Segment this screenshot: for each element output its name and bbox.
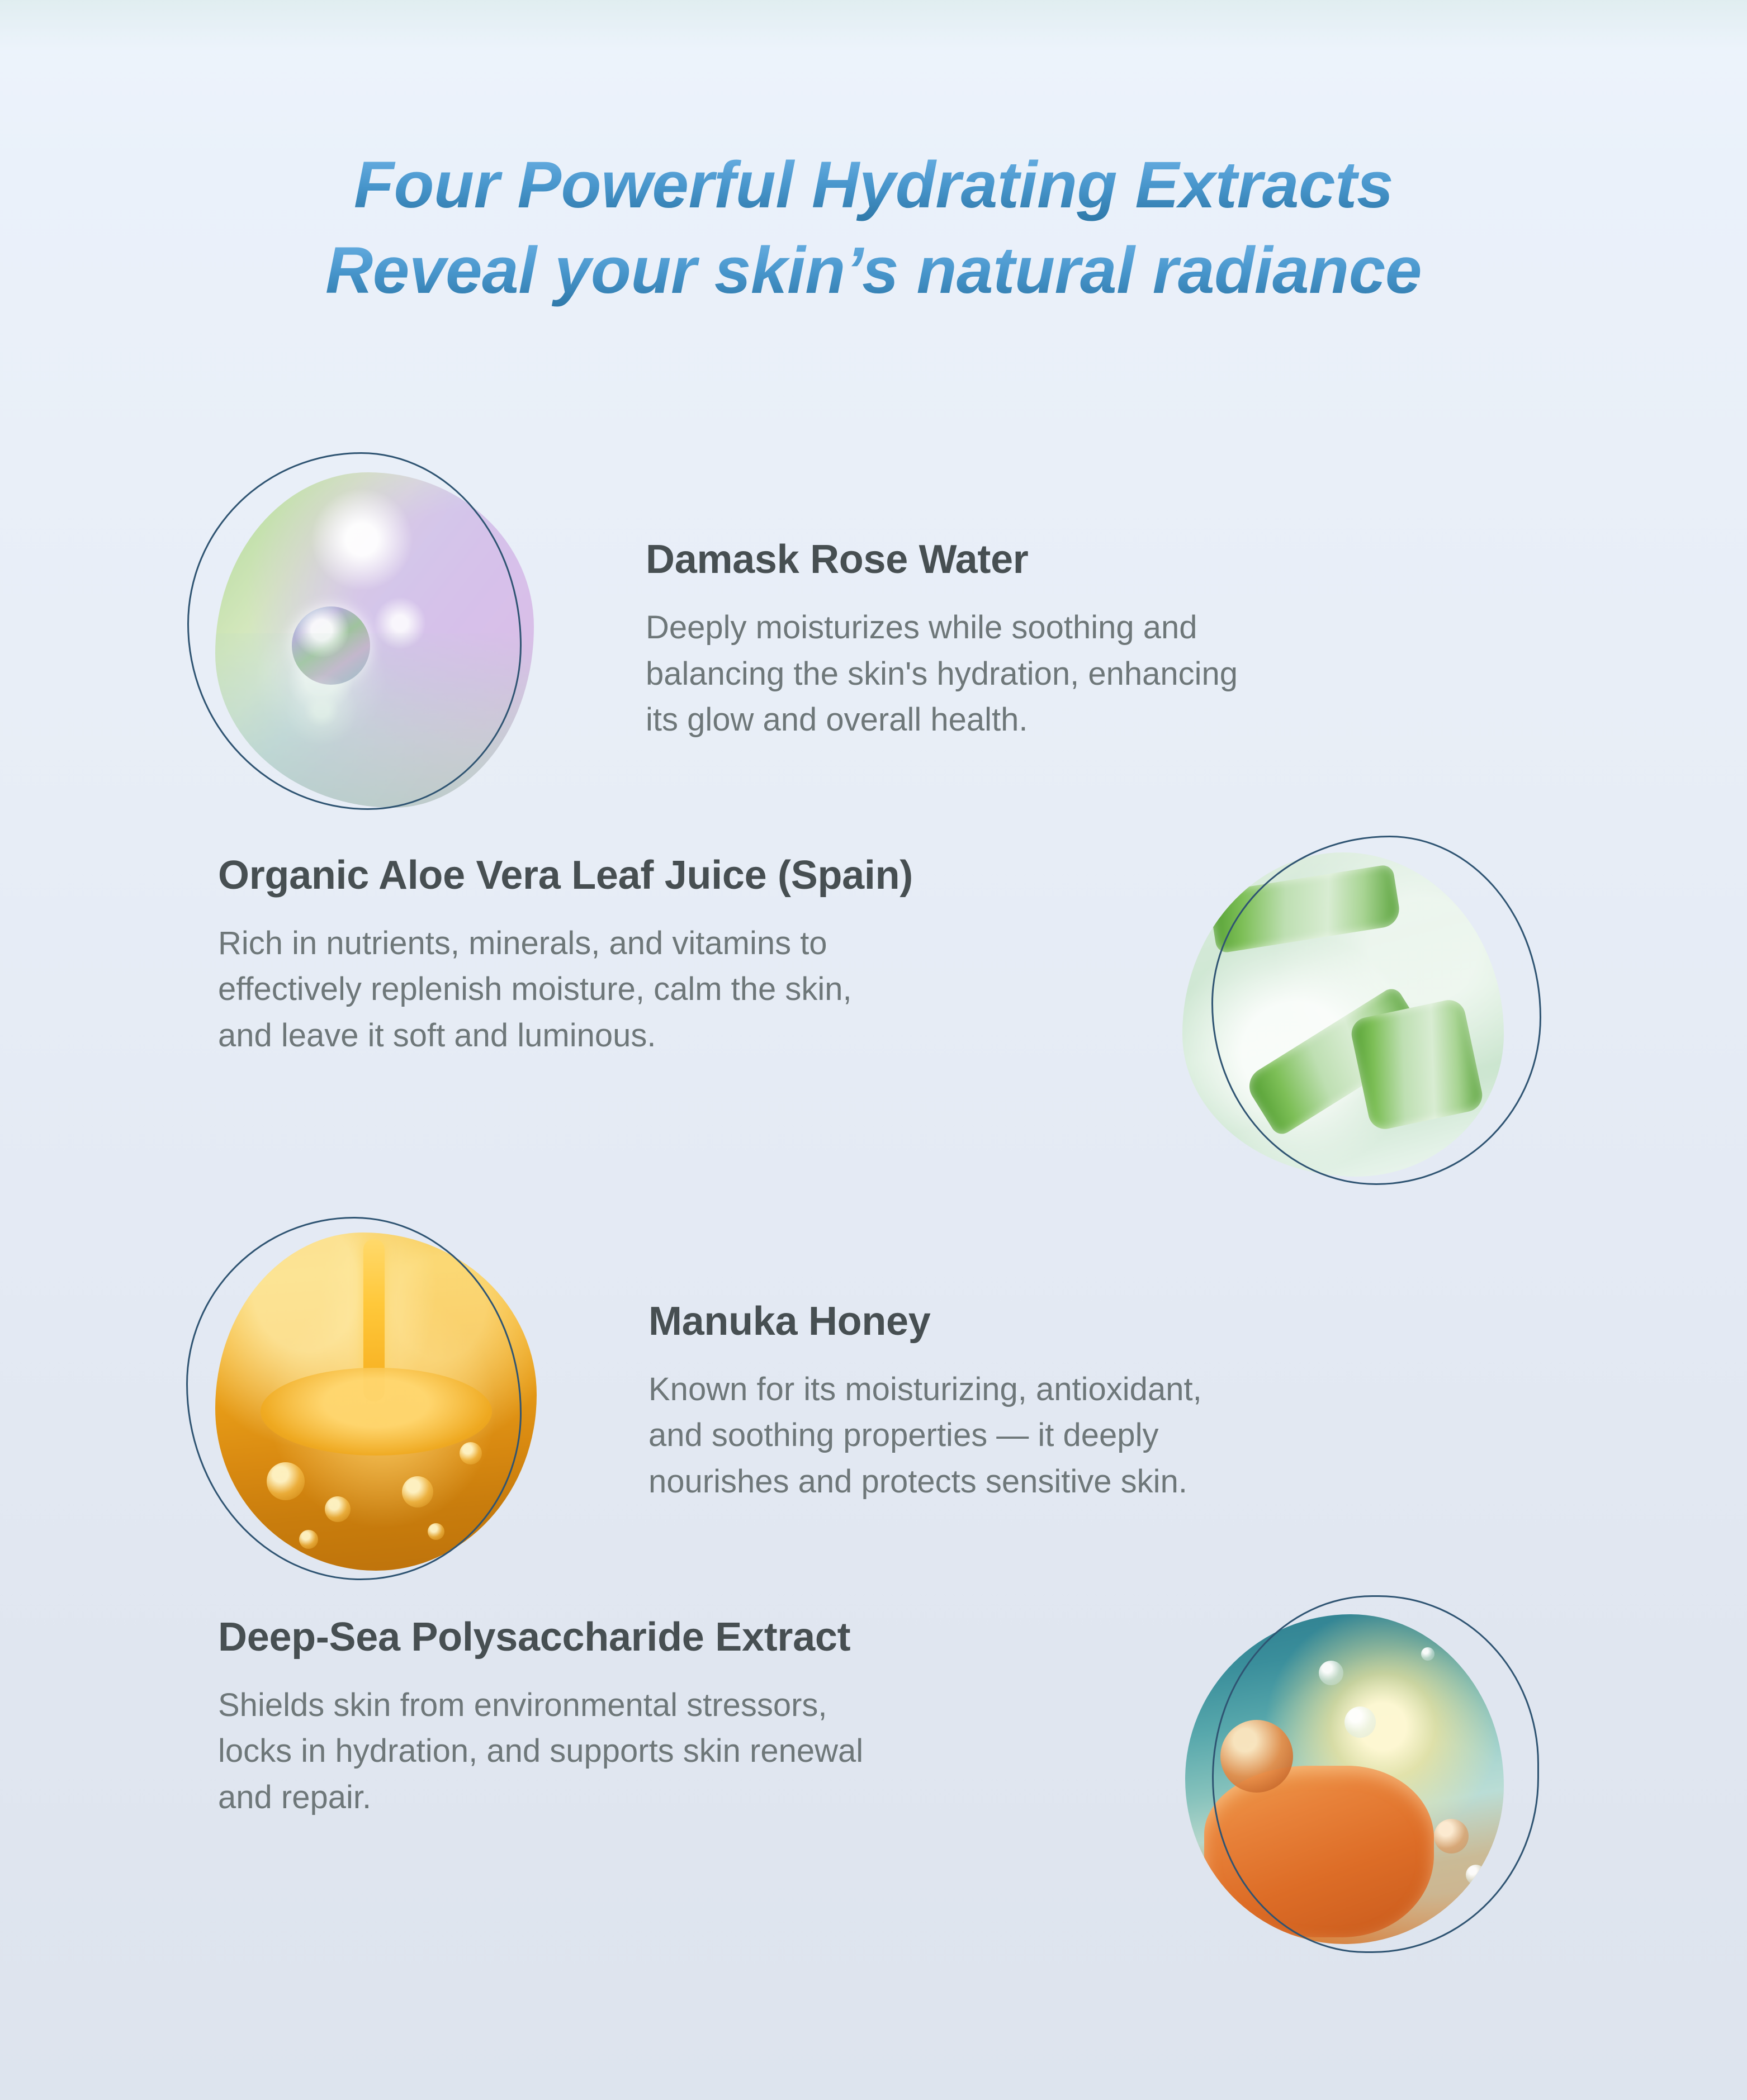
ingredient-media-3 <box>215 1232 537 1571</box>
dewdrop-on-petal-image <box>215 472 534 808</box>
ingredient-media-1 <box>215 472 534 808</box>
ingredient-text-2: Organic Aloe Vera Leaf Juice (Spain) Ric… <box>218 852 913 1059</box>
sea-bubble-icon <box>1466 1865 1486 1885</box>
ingredient-text-3: Manuka Honey Known for its moisturizing,… <box>648 1298 1202 1505</box>
honey-pool-icon <box>261 1368 492 1456</box>
ingredient-title-4: Deep-Sea Polysaccharide Extract <box>218 1614 863 1660</box>
sea-bubble-icon <box>1344 1706 1376 1738</box>
honey-bubble-icon <box>267 1462 305 1500</box>
deep-sea-crystal-bubbles-image <box>1185 1614 1504 1944</box>
ingredient-row-damask-rose-water: Damask Rose Water Deeply moisturizes whi… <box>0 472 1747 808</box>
ingredient-description-2: Rich in nutrients, minerals, and vitamin… <box>218 921 913 1059</box>
coral-crystal-icon <box>1204 1766 1433 1937</box>
ingredient-title-3: Manuka Honey <box>648 1298 1202 1344</box>
ingredient-title-1: Damask Rose Water <box>646 537 1238 582</box>
sea-bubble-icon <box>1434 1819 1469 1854</box>
honey-bubble-icon <box>325 1496 351 1522</box>
title-line-2: Reveal your skin’s natural radiance <box>0 228 1747 314</box>
honey-bubble-icon <box>428 1523 444 1540</box>
infographic-page: Four Powerful Hydrating Extracts Reveal … <box>0 0 1747 2100</box>
ingredient-row-aloe-vera: Organic Aloe Vera Leaf Juice (Spain) Ric… <box>0 852 1747 1059</box>
honey-bubble-icon <box>402 1476 433 1508</box>
ingredient-title-2: Organic Aloe Vera Leaf Juice (Spain) <box>218 852 913 898</box>
ingredient-description-4: Shields skin from environmental stressor… <box>218 1682 863 1821</box>
ingredient-row-deep-sea-polysaccharide: Deep-Sea Polysaccharide Extract Shields … <box>0 1614 1747 1821</box>
ingredient-description-1: Deeply moisturizes while soothing and ba… <box>646 605 1238 743</box>
light-flare-icon <box>285 674 358 746</box>
aloe-leaf-slice-icon <box>1208 864 1402 954</box>
honey-bubble-icon <box>460 1442 482 1464</box>
page-title: Four Powerful Hydrating Extracts Reveal … <box>0 143 1747 314</box>
orange-sphere-icon <box>1220 1720 1293 1793</box>
ingredient-media-2 <box>1182 852 1504 1177</box>
ingredient-description-3: Known for its moisturizing, antioxidant,… <box>648 1367 1202 1505</box>
sea-bubble-icon <box>1421 1647 1434 1661</box>
sea-bubble-icon <box>1319 1661 1343 1685</box>
honey-bubble-icon <box>299 1530 318 1549</box>
title-line-1: Four Powerful Hydrating Extracts <box>0 143 1747 228</box>
ingredient-text-4: Deep-Sea Polysaccharide Extract Shields … <box>218 1614 863 1821</box>
top-haze-decoration <box>0 0 1747 50</box>
aloe-leaf-slice-icon <box>1348 997 1485 1132</box>
water-droplet-icon <box>292 606 370 685</box>
ingredient-text-1: Damask Rose Water Deeply moisturizes whi… <box>646 537 1238 743</box>
ingredient-media-4 <box>1185 1614 1504 1944</box>
aloe-vera-slices-in-gel-image <box>1182 852 1504 1177</box>
ingredient-row-manuka-honey: Manuka Honey Known for its moisturizing,… <box>0 1232 1747 1571</box>
pouring-honey-image <box>215 1232 537 1571</box>
